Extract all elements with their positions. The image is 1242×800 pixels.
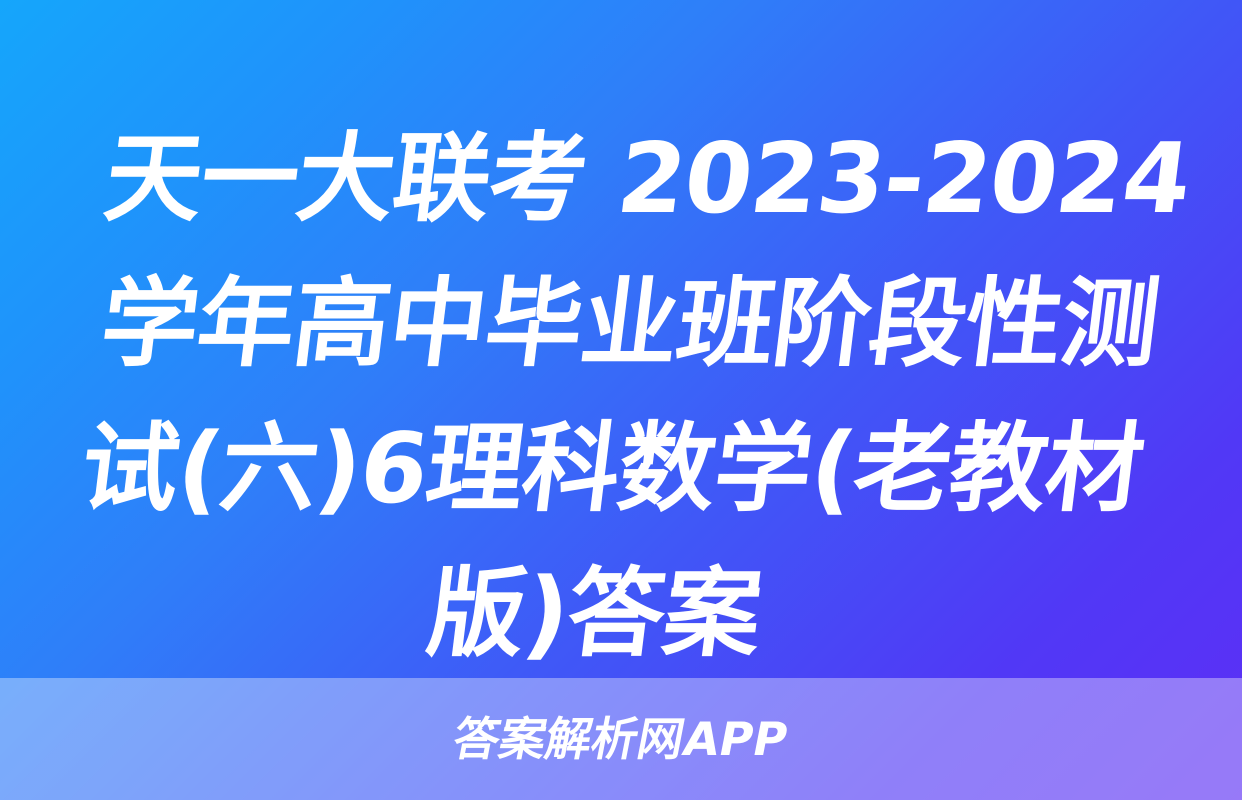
app-watermark-banner: 答案解析网APP [0, 678, 1242, 800]
page-title: 天一大联考 2023-2024学年高中毕业班阶段性测试(六)6理科数学(老教材版… [0, 106, 1242, 686]
app-watermark-label: 答案解析网APP [450, 716, 792, 762]
page-title-text: 天一大联考 2023-2024学年高中毕业班阶段性测试(六)6理科数学(老教材版… [10, 106, 1231, 686]
poster-canvas: 天一大联考 2023-2024学年高中毕业班阶段性测试(六)6理科数学(老教材版… [0, 0, 1242, 800]
